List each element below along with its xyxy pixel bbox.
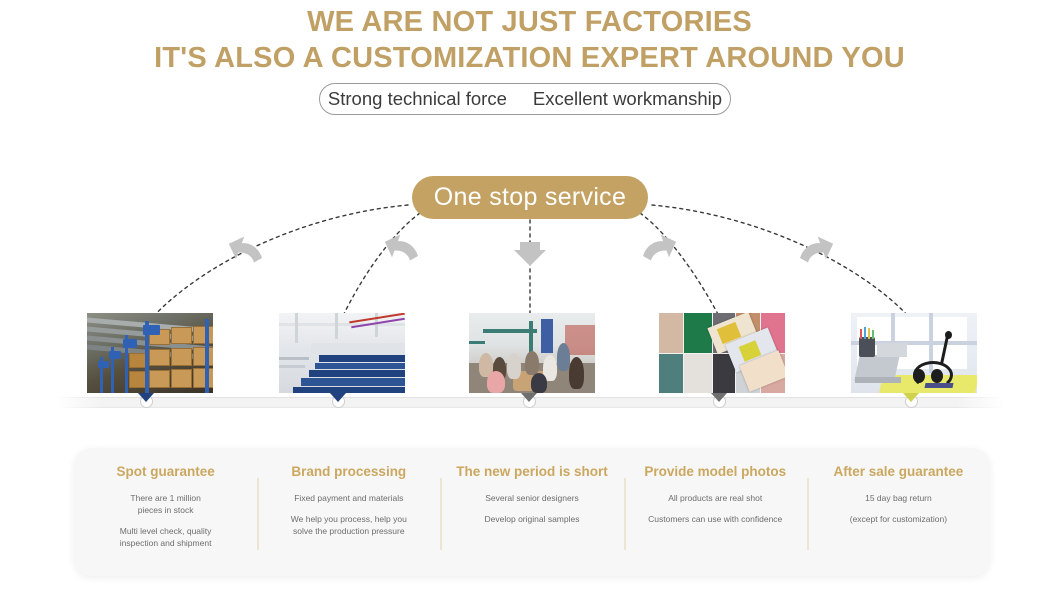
connector-arrowhead-2 [381,231,423,266]
feature-title: Brand processing [265,464,432,480]
feature-line: All products are real shot [632,492,799,504]
feature-line: (except for customization) [815,513,982,525]
model-photos-collage [659,313,785,393]
subtitle-item-workmanship: Excellent workmanship [533,89,722,109]
connector-arrowhead-1 [225,233,267,268]
feature-title: After sale guarantee [815,464,982,480]
feature-column-model-photos: Provide model photos All products are re… [624,448,807,576]
page-headline-line-2: IT'S ALSO A CUSTOMIZATION EXPERT AROUND … [0,40,1059,76]
feature-line: Fixed payment and materials [265,492,432,504]
subtitle-item-technical-force: Strong technical force [328,89,507,109]
feature-column-spot-guarantee: Spot guarantee There are 1 million piece… [74,448,257,576]
feature-line: Develop original samples [448,513,615,525]
feature-line: Multi level check, quality inspection an… [82,525,249,549]
connector-curve-1 [150,205,408,320]
customer-service-desk-photo [851,313,977,393]
page-headline-line-1: WE ARE NOT JUST FACTORIES [0,4,1059,40]
warehouse-stock-photo [87,313,213,393]
connector-curve-5 [652,205,912,320]
feature-line: We help you process, help you solve the … [265,513,432,537]
feature-column-new-period-short: The new period is short Several senior d… [440,448,623,576]
connector-arrowhead-3 [514,242,546,266]
connector-curve-4 [640,213,720,318]
connector-curve-2 [342,213,420,318]
feature-line: 15 day bag return [815,492,982,504]
warehouse-photo-pin [138,393,154,402]
features-card: Spot guarantee There are 1 million piece… [74,448,990,576]
one-stop-service-badge: One stop service [412,176,648,219]
feature-line: There are 1 million pieces in stock [82,492,249,516]
service-desk-photo-pin [903,393,919,402]
connector-arrowhead-4 [638,231,680,266]
design-studio-photo-pin [521,393,537,402]
model-photos-pin [711,393,727,402]
feature-title: The new period is short [448,464,615,480]
feature-title: Spot guarantee [82,464,249,480]
feature-line: Customers can use with confidence [632,513,799,525]
design-studio-photo [469,313,595,393]
feature-line: Several senior designers [448,492,615,504]
feature-column-brand-processing: Brand processing Fixed payment and mater… [257,448,440,576]
subtitle-pill: Strong technical force Excellent workman… [319,83,731,115]
feature-title: Provide model photos [632,464,799,480]
connector-arrowhead-5 [795,233,837,268]
fabric-cutting-photo [279,313,405,393]
feature-column-after-sale-guarantee: After sale guarantee 15 day bag return (… [807,448,990,576]
fabric-photo-pin [330,393,346,402]
